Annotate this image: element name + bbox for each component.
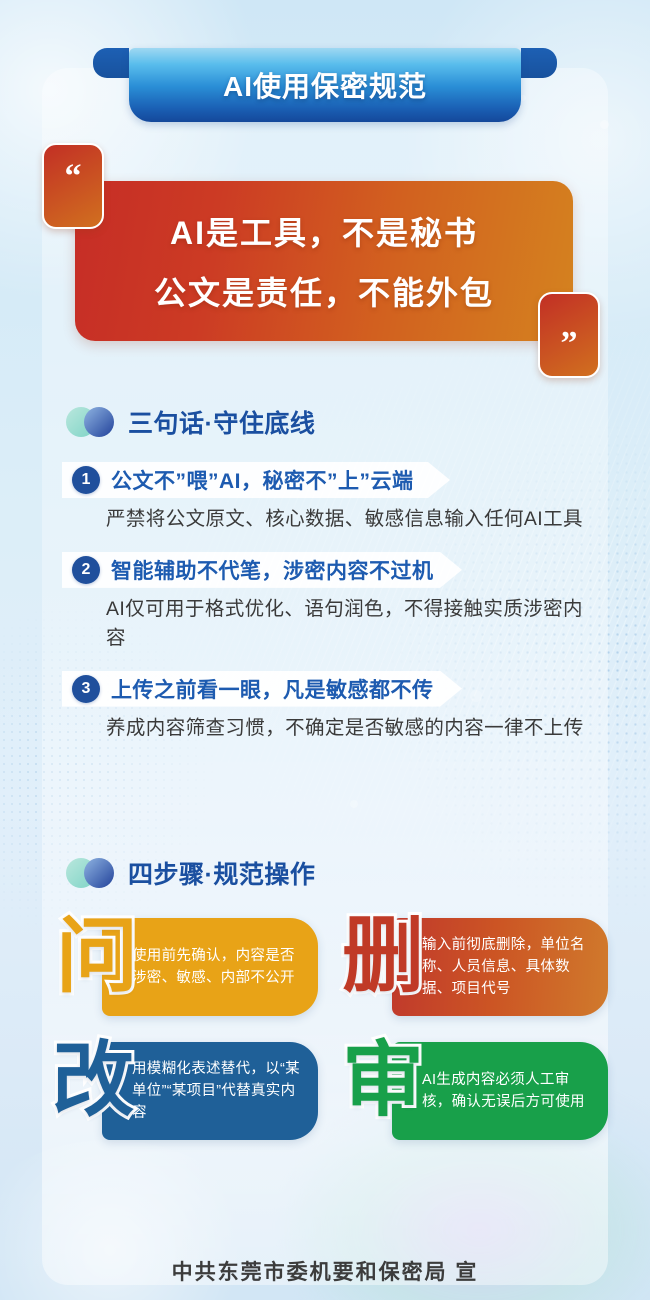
double-circle-icon [66,858,114,888]
section-title: 三句话·守住底线 [128,404,315,440]
list-item: 2 智能辅助不代笔，涉密内容不过机 AI仅可用于格式优化、语句润色，不得接触实质… [66,552,586,653]
quote-line-2: 公文是责任，不能外包 [154,268,494,314]
step-text: AI生成内容必须人工审核，确认无误后方可使用 [392,1069,608,1113]
list-item-body: 严禁将公文原文、核心数据、敏感信息输入任何AI工具 [106,505,586,534]
footer-text: 中共东莞市委机要和保密局 宣 [0,1256,650,1286]
step-card-body: AI生成内容必须人工审核，确认无误后方可使用 [392,1042,608,1140]
list-item-title: 公文不”喂”AI，秘密不”上”云端 [111,465,414,495]
section-title: 四步骤·规范操作 [128,855,315,891]
quote-open-mark-icon: “ [42,143,104,229]
list-item-number: 1 [72,466,100,494]
step-card-ask: 使用前先确认，内容是否涉密、敏感、内部不公开 问 [42,918,318,1016]
step-glyph-edit: 改 [52,1040,134,1122]
list-item-body: AI仅可用于格式优化、语句润色，不得接触实质涉密内容 [106,595,586,653]
title-banner: AI使用保密规范 [0,48,650,122]
step-card-review: AI生成内容必须人工审核，确认无误后方可使用 审 [332,1042,608,1140]
step-card-edit: 用模糊化表述替代，以“某单位”“某项目”代替真实内容 改 [42,1042,318,1140]
section-header-principles: 三句话·守住底线 [66,404,315,440]
step-text: 输入前彻底删除，单位名称、人员信息、具体数据、项目代号 [392,934,608,1000]
step-card-body: 用模糊化表述替代，以“某单位”“某项目”代替真实内容 [102,1042,318,1140]
list-item-header: 2 智能辅助不代笔，涉密内容不过机 [66,552,586,588]
list-item-body: 养成内容筛查习惯，不确定是否敏感的内容一律不上传 [106,714,586,743]
step-glyph-delete: 删 [342,916,424,998]
steps-row: 用模糊化表述替代，以“某单位”“某项目”代替真实内容 改 AI生成内容必须人工审… [42,1042,608,1140]
step-card-delete: 输入前彻底删除，单位名称、人员信息、具体数据、项目代号 删 [332,918,608,1016]
quote-line-1: AI是工具，不是秘书 [170,208,478,254]
quote-card: AI是工具，不是秘书 公文是责任，不能外包 [75,181,573,341]
quote-block: AI是工具，不是秘书 公文是责任，不能外包 “ ” [42,143,608,378]
ribbon-body: AI使用保密规范 [129,48,521,122]
list-item-title: 上传之前看一眼，凡是敏感都不传 [111,674,434,704]
step-card-body: 输入前彻底删除，单位名称、人员信息、具体数据、项目代号 [392,918,608,1016]
list-item-header: 3 上传之前看一眼，凡是敏感都不传 [66,671,586,707]
step-glyph-review: 审 [342,1040,424,1122]
double-circle-icon [66,407,114,437]
list-item-number: 3 [72,675,100,703]
principles-list: 1 公文不”喂”AI，秘密不”上”云端 严禁将公文原文、核心数据、敏感信息输入任… [66,462,586,760]
step-glyph-ask: 问 [56,916,138,998]
page-title: AI使用保密规范 [223,65,427,105]
section-header-steps: 四步骤·规范操作 [66,855,315,891]
steps-row: 使用前先确认，内容是否涉密、敏感、内部不公开 问 输入前彻底删除，单位名称、人员… [42,918,608,1016]
list-item-number: 2 [72,556,100,584]
list-item-header: 1 公文不”喂”AI，秘密不”上”云端 [66,462,586,498]
quote-close-mark-icon: ” [538,292,600,378]
list-item-title: 智能辅助不代笔，涉密内容不过机 [111,555,434,585]
ribbon-fold-right [521,48,557,78]
steps-grid: 使用前先确认，内容是否涉密、敏感、内部不公开 问 输入前彻底删除，单位名称、人员… [42,918,608,1166]
step-text: 用模糊化表述替代，以“某单位”“某项目”代替真实内容 [102,1058,318,1124]
list-item: 1 公文不”喂”AI，秘密不”上”云端 严禁将公文原文、核心数据、敏感信息输入任… [66,462,586,534]
list-item: 3 上传之前看一眼，凡是敏感都不传 养成内容筛查习惯，不确定是否敏感的内容一律不… [66,671,586,743]
ribbon-fold-left [93,48,129,78]
